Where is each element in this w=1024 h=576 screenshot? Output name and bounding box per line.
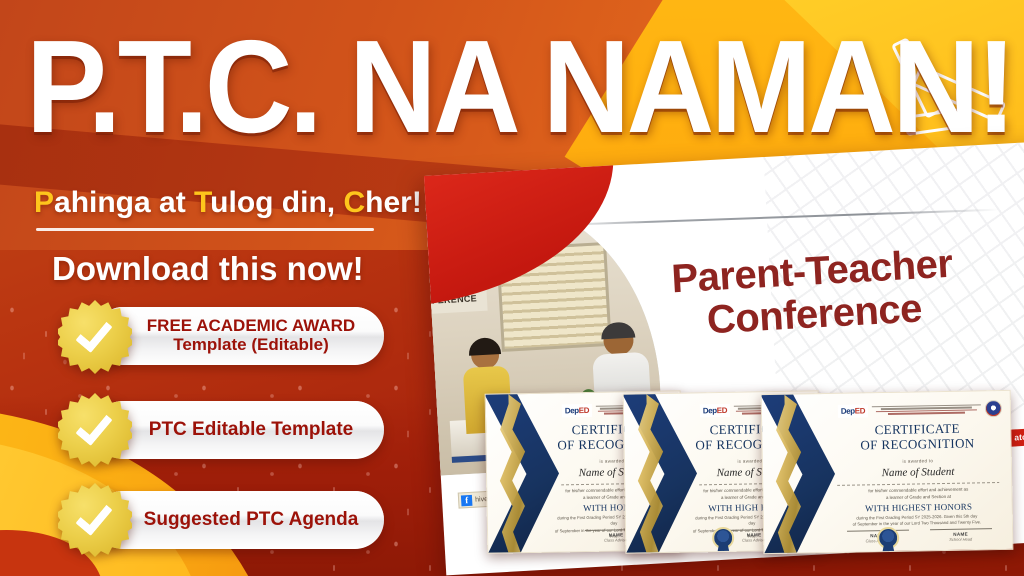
certificate-header: DepED bbox=[838, 397, 1002, 422]
list-item[interactable]: Suggested PTC Agenda bbox=[94, 491, 384, 549]
certificate-title-line2: OF RECOGNITION bbox=[832, 436, 1002, 454]
check-badge-icon bbox=[58, 483, 132, 557]
deped-logo-text-1: Dep bbox=[703, 406, 717, 415]
deped-logo-icon: DepED bbox=[562, 403, 592, 417]
chevron-navy bbox=[761, 392, 837, 554]
list-item[interactable]: FREE ACADEMIC AWARD Template (Editable) bbox=[94, 307, 384, 365]
list-item-label-line2: Template (Editable) bbox=[147, 336, 355, 355]
deped-logo-text-1: Dep bbox=[841, 406, 855, 415]
department-text-block bbox=[872, 404, 981, 415]
subtitle: Pahinga at Tulog din, Cher! bbox=[34, 186, 422, 220]
signature-role: School Head bbox=[930, 536, 992, 542]
subtitle-hl-c: C bbox=[343, 186, 365, 219]
chevron-navy bbox=[485, 391, 561, 553]
divider bbox=[36, 228, 374, 231]
certificate-chevron-left bbox=[485, 391, 561, 553]
list-item[interactable]: PTC Editable Template bbox=[94, 401, 384, 459]
poster-canvas: P.T.C. NA NAMAN! Pahinga at Tulog din, C… bbox=[0, 0, 1024, 576]
deped-logo-text-2: ED bbox=[717, 405, 727, 414]
list-item-label-line1: PTC Editable Template bbox=[149, 420, 353, 441]
subtitle-part-3: her! bbox=[365, 186, 422, 219]
deped-logo-text-2: ED bbox=[579, 405, 589, 414]
chevron-navy bbox=[623, 391, 699, 553]
school-seal-icon bbox=[985, 399, 1002, 416]
list-item-label-line1: Suggested PTC Agenda bbox=[144, 510, 359, 531]
certificate-card[interactable]: DepED CERTIFICATE OF RECOGNITION is awar… bbox=[761, 390, 1014, 554]
facebook-icon: f bbox=[461, 494, 473, 506]
deped-logo-icon: DepED bbox=[838, 404, 868, 418]
signature-block: NAME School Head bbox=[930, 528, 992, 542]
deped-logo-text-2: ED bbox=[855, 406, 865, 415]
certificate-chevron-left bbox=[623, 391, 699, 553]
page-title: P.T.C. NA NAMAN! bbox=[26, 22, 836, 151]
subtitle-part-2: ulog din, bbox=[210, 186, 343, 219]
certificate-rosette-icon bbox=[712, 527, 734, 549]
cta-text: Download this now! bbox=[52, 250, 364, 288]
signature-line bbox=[930, 528, 992, 530]
deped-logo-icon: DepED bbox=[700, 403, 730, 417]
check-badge-icon bbox=[58, 393, 132, 467]
subtitle-hl-t: T bbox=[194, 186, 210, 219]
subtitle-hl-p: P bbox=[34, 186, 54, 219]
list-item-label-line1: FREE ACADEMIC AWARD bbox=[147, 317, 355, 336]
certificate-group: DepED CERTIFICATE OF RECOGNITION is awar… bbox=[486, 392, 1024, 576]
certificate-title: CERTIFICATE OF RECOGNITION bbox=[832, 421, 1002, 453]
certificate-rosette-icon bbox=[877, 527, 899, 549]
certificate-chevron-left bbox=[761, 392, 837, 554]
check-badge-icon bbox=[58, 300, 132, 374]
signature-line bbox=[847, 530, 909, 532]
deped-logo-text-1: Dep bbox=[565, 406, 579, 415]
subtitle-part-1: ahinga at bbox=[54, 186, 194, 219]
